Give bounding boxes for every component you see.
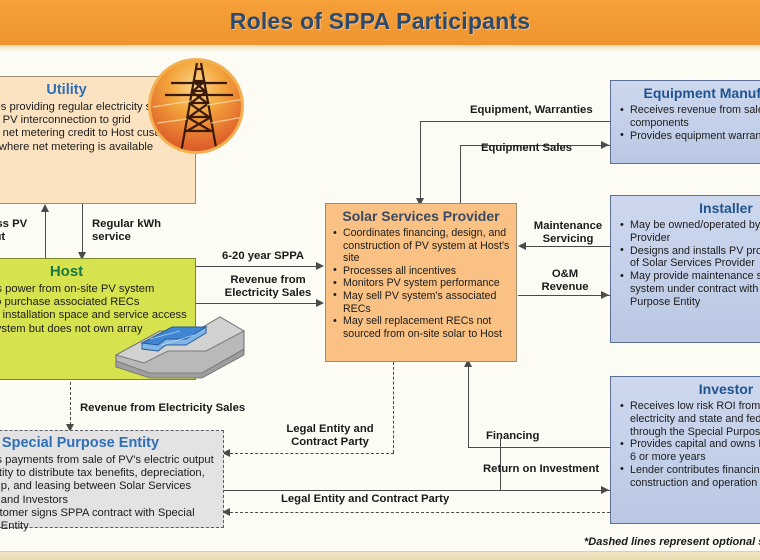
box-special-purpose-entity-title: Special Purpose Entity: [0, 435, 216, 451]
building-svg: [110, 305, 250, 383]
box-special-purpose-entity[interactable]: Special Purpose Entity Receives payments…: [0, 430, 224, 528]
connector-financing-hline: [468, 447, 610, 448]
box-solar-services-provider-title: Solar Services Provider: [332, 208, 510, 224]
box-investor-title: Investor: [619, 381, 760, 397]
page-title: Roles of SPPA Participants: [0, 8, 760, 35]
list-item: Legal entity to distribute tax benefits,…: [0, 467, 216, 507]
transmission-tower-icon: [148, 58, 244, 154]
connector-label-return-on-investment: Return on Investment: [483, 463, 599, 476]
list-item: May be owned/operated by Solar Services …: [619, 219, 760, 245]
connector-label-excess-pv-output: Excess PV output: [0, 218, 27, 244]
connector-legal-upper-dash-h: [230, 453, 394, 454]
list-item: Coordinates financing, design, and const…: [332, 227, 510, 265]
connector-excess-pv-line: [45, 210, 46, 262]
building-with-pv-array-icon: [110, 305, 250, 383]
list-item: Host customer signs SPPA contract with S…: [0, 507, 216, 533]
box-equipment-manufacturer-bullets: Receives revenue from sale of PV system …: [619, 104, 760, 142]
connector-label-legal-entity-contract-party-lower: Legal Entity and Contract Party: [281, 493, 449, 506]
connector-regular-kwh-line: [82, 204, 83, 254]
box-investor-bullets: Receives low risk ROI from sale of elect…: [619, 400, 760, 490]
connector-om-revenue-line: [518, 295, 610, 296]
box-host-title: Host: [0, 263, 188, 280]
connector-label-sppa-term: 6-20 year SPPA: [222, 250, 304, 263]
list-item: Processes all incentives: [332, 265, 510, 278]
box-installer-bullets: May be owned/operated by Solar Services …: [619, 219, 760, 309]
list-item: Monitors PV system performance: [332, 277, 510, 290]
list-item: Receives low risk ROI from sale of elect…: [619, 400, 760, 438]
list-item: Receives revenue from sale of PV system …: [619, 104, 760, 130]
box-installer[interactable]: Installer May be owned/operated by Solar…: [610, 195, 760, 343]
connector-sppa-arrow: [316, 262, 324, 270]
connector-equip-sales-vline: [460, 145, 461, 203]
connector-excess-pv-arrow: [41, 204, 49, 212]
box-investor[interactable]: Investor Receives low risk ROI from sale…: [610, 376, 760, 524]
footer-band: [0, 551, 760, 560]
connector-financing-vline: [468, 366, 469, 448]
box-equipment-manufacturer-title: Equipment Manufacturer: [619, 85, 760, 101]
list-item: Provides capital and owns PV system for …: [619, 438, 760, 464]
connector-roi-hline: [224, 490, 610, 491]
list-item: May sell replacement RECs not sourced fr…: [332, 315, 510, 340]
list-item: Provides equipment warranties: [619, 130, 760, 143]
connector-label-revenue-from-electricity-sales-spe: Revenue from Electricity Sales: [80, 402, 245, 415]
connector-sppa-line: [196, 266, 317, 267]
connector-label-revenue-electricity-sales: Revenue from Electricity Sales: [214, 274, 322, 300]
list-item: Receives payments from sale of PV's elec…: [0, 454, 216, 467]
list-item: May provide maintenance servicing for PV…: [619, 270, 760, 308]
connector-roi-arrow: [601, 486, 609, 494]
box-solar-services-provider[interactable]: Solar Services Provider Coordinates fina…: [325, 203, 517, 362]
connector-label-equipment-warranties: Equipment, Warranties: [470, 104, 593, 117]
connector-equip-sales-arrow: [601, 141, 609, 149]
header-underlay: [0, 47, 760, 52]
box-equipment-manufacturer[interactable]: Equipment Manufacturer Receives revenue …: [610, 80, 760, 164]
connector-legal-upper-dash-v: [393, 362, 394, 453]
connector-label-financing: Financing: [486, 430, 539, 443]
connector-label-regular-kwh-service: Regular kWh service: [92, 218, 161, 244]
box-special-purpose-entity-bullets: Receives payments from sale of PV's elec…: [0, 454, 216, 533]
connector-label-maintenance-servicing: Maintenance Servicing: [525, 220, 611, 246]
connector-label-om-revenue: O&M Revenue: [521, 268, 609, 294]
footer-note: *Dashed lines represent optional se: [584, 536, 760, 548]
connector-maintenance-line: [525, 246, 611, 247]
diagram-canvas: Roles of SPPA Participants Excess PV out…: [0, 0, 760, 560]
box-solar-services-provider-bullets: Coordinates financing, design, and const…: [332, 227, 510, 340]
connector-legal-lower-dash-h: [230, 512, 610, 513]
transmission-tower-svg: [151, 61, 244, 154]
connector-revenue-spe-dash: [70, 382, 71, 430]
connector-label-equipment-sales: Equipment Sales: [481, 142, 572, 155]
box-installer-title: Installer: [619, 200, 760, 216]
list-item: Lender contributes financing for constru…: [619, 464, 760, 490]
connector-equip-warranties-vline: [420, 121, 421, 203]
connector-equip-warranties-hline: [420, 121, 610, 122]
list-item: Receives power from on-site PV system: [0, 283, 188, 296]
list-item: May sell PV system's associated RECs: [332, 290, 510, 315]
connector-revenue-elec-arrow: [316, 299, 324, 307]
connector-label-legal-entity-contract-party-upper: Legal Entity and Contract Party: [270, 423, 390, 449]
list-item: Designs and installs PV project on behal…: [619, 245, 760, 271]
